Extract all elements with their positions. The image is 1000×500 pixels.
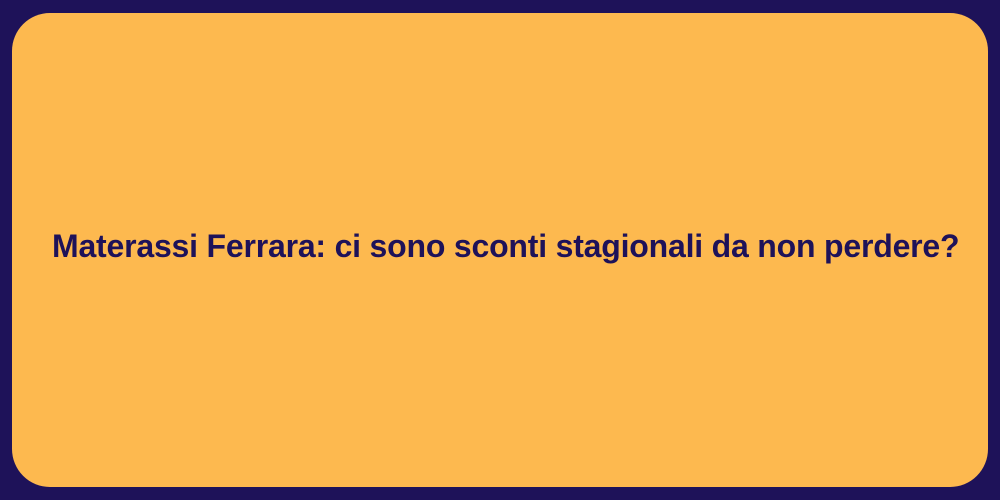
heading-container: Materassi Ferrara: ci sono sconti stagio…	[12, 226, 988, 268]
banner-panel: Materassi Ferrara: ci sono sconti stagio…	[12, 13, 988, 487]
banner-frame: Materassi Ferrara: ci sono sconti stagio…	[0, 0, 1000, 500]
page-title: Materassi Ferrara: ci sono sconti stagio…	[52, 226, 948, 268]
